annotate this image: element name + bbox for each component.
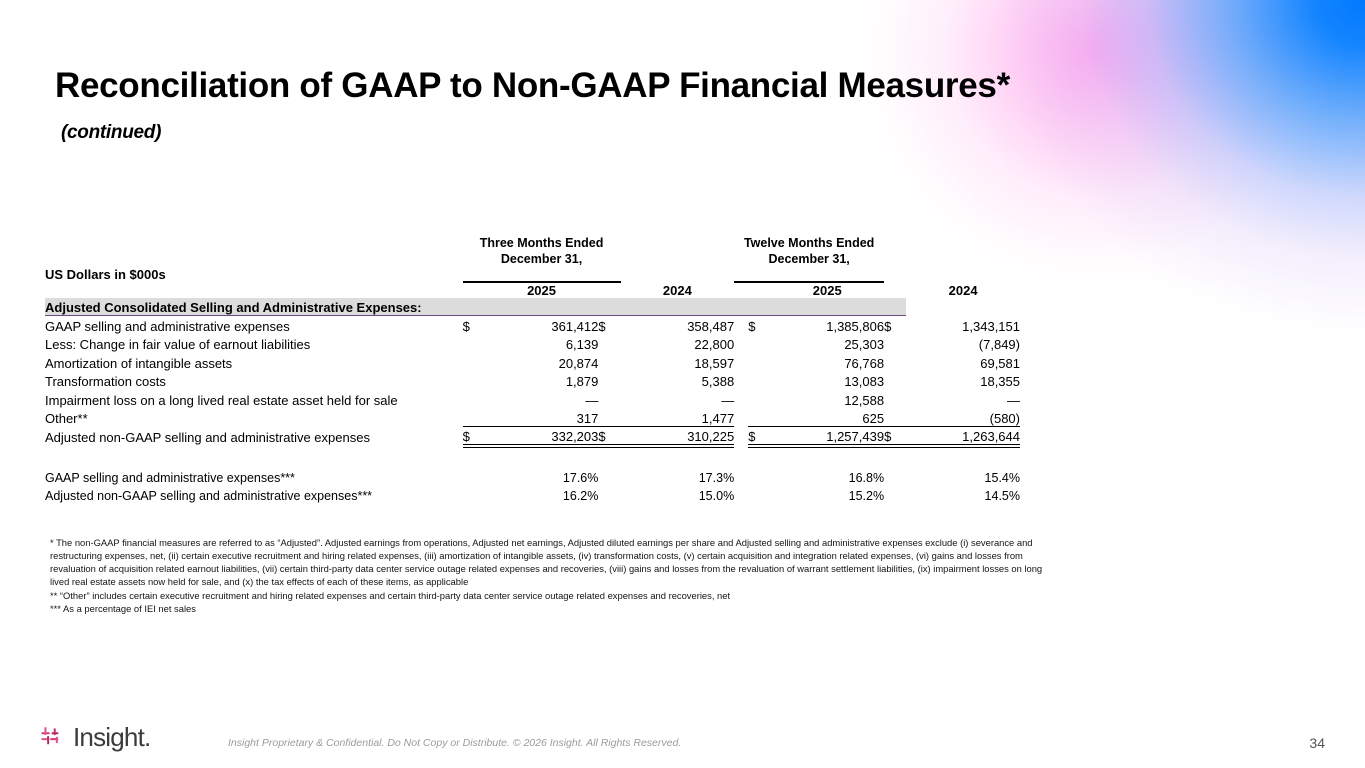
insight-logo-icon — [40, 724, 67, 751]
col-gap — [734, 334, 748, 353]
currency-symbol: $ — [748, 315, 770, 334]
year-cur-spacer — [598, 282, 620, 298]
currency-symbol: $ — [463, 426, 485, 445]
percent-cur-spacer — [748, 467, 770, 485]
table-total-row: Adjusted non-GAAP selling and administra… — [45, 426, 1020, 445]
cell-value: 17.6% — [485, 467, 599, 485]
group-header-line2: December 31, — [501, 252, 582, 266]
insight-logo-wordmark: Insight. — [73, 722, 150, 753]
cell-value: 1,343,151 — [906, 315, 1020, 334]
table-percent-row: Adjusted non-GAAP selling and administra… — [45, 485, 1020, 503]
table-row: Amortization of intangible assets20,8741… — [45, 352, 1020, 371]
cell-value: 15.2% — [770, 485, 884, 503]
cell-value: 16.8% — [770, 467, 884, 485]
col-gap — [734, 389, 748, 408]
cell-value: — — [906, 389, 1020, 408]
col-gap — [734, 408, 748, 427]
cell-value: 1,263,644 — [906, 426, 1020, 445]
currency-symbol: $ — [748, 426, 770, 445]
percent-cur-spacer — [463, 485, 485, 503]
currency-symbol — [463, 334, 485, 353]
currency-symbol — [598, 408, 620, 427]
page-title-continued: (continued) — [61, 122, 161, 143]
cell-value: 6,139 — [485, 334, 599, 353]
footnotes: * The non-GAAP financial measures are re… — [50, 537, 1055, 616]
cell-value: 13,083 — [770, 371, 884, 390]
group-rule-three-months — [463, 267, 621, 282]
cell-value: 1,385,806 — [770, 315, 884, 334]
year-cur-spacer — [748, 282, 770, 298]
group-rule-gap — [621, 267, 735, 282]
cell-value: 18,355 — [906, 371, 1020, 390]
cell-value: 625 — [770, 408, 884, 427]
cell-value: — — [485, 389, 599, 408]
table-gap-row — [45, 448, 1020, 467]
table-year-header-row: 2025202420252024 — [45, 282, 1020, 298]
currency-symbol — [598, 389, 620, 408]
section-banner-row: Adjusted Consolidated Selling and Admini… — [45, 298, 1020, 315]
cell-value: — — [621, 389, 735, 408]
footnote-double-star: ** “Other” includes certain executive re… — [50, 590, 1055, 603]
table-percent-row: GAAP selling and administrative expenses… — [45, 467, 1020, 485]
currency-symbol — [463, 371, 485, 390]
units-label: US Dollars in $000s — [45, 267, 463, 282]
group-gap — [621, 236, 735, 267]
group-header-three-months: Three Months EndedDecember 31, — [463, 236, 621, 267]
cell-value: 332,203 — [485, 426, 599, 445]
cell-value: 317 — [485, 408, 599, 427]
cell-value: 1,879 — [485, 371, 599, 390]
currency-symbol — [748, 389, 770, 408]
cell-value: 76,768 — [770, 352, 884, 371]
percent-cur-spacer — [748, 485, 770, 503]
row-label: GAAP selling and administrative expenses… — [45, 467, 463, 485]
page-number: 34 — [1309, 735, 1325, 751]
currency-symbol — [463, 389, 485, 408]
table-row: Impairment loss on a long lived real est… — [45, 389, 1020, 408]
double-rule-num — [906, 445, 1020, 448]
row-label: Adjusted non-GAAP selling and administra… — [45, 426, 463, 445]
cell-value: 310,225 — [621, 426, 735, 445]
cell-value: 358,487 — [621, 315, 735, 334]
year-header-three-months-2025: 2025 — [485, 282, 599, 298]
currency-symbol — [748, 371, 770, 390]
cell-value: (580) — [906, 408, 1020, 427]
group-header-line1: Three Months Ended — [480, 236, 604, 250]
footnote-star: * The non-GAAP financial measures are re… — [50, 537, 1055, 589]
section-banner-label: Adjusted Consolidated Selling and Admini… — [45, 298, 906, 315]
percent-cur-spacer — [598, 485, 620, 503]
year-cur-spacer — [884, 282, 906, 298]
cell-value: 14.5% — [906, 485, 1020, 503]
cell-value: 25,303 — [770, 334, 884, 353]
col-gap — [734, 371, 748, 390]
group-header-spacer — [45, 236, 463, 267]
cell-value: 18,597 — [621, 352, 735, 371]
page-title: Reconciliation of GAAP to Non-GAAP Finan… — [55, 65, 1015, 148]
currency-symbol — [884, 352, 906, 371]
cell-value: 69,581 — [906, 352, 1020, 371]
currency-symbol: $ — [884, 426, 906, 445]
currency-symbol — [884, 371, 906, 390]
currency-symbol — [748, 408, 770, 427]
cell-value: 1,477 — [621, 408, 735, 427]
cell-value: 5,388 — [621, 371, 735, 390]
currency-symbol: $ — [884, 315, 906, 334]
col-gap — [734, 485, 748, 503]
row-label: Transformation costs — [45, 371, 463, 390]
currency-symbol — [463, 352, 485, 371]
table-group-rule-row: US Dollars in $000s — [45, 267, 1020, 282]
reconciliation-table: Three Months EndedDecember 31,Twelve Mon… — [45, 236, 1020, 503]
row-label: Adjusted non-GAAP selling and administra… — [45, 485, 463, 503]
page-title-text: Reconciliation of GAAP to Non-GAAP Finan… — [55, 66, 1010, 105]
col-gap — [734, 467, 748, 485]
cell-value: 12,588 — [770, 389, 884, 408]
cell-value: 15.4% — [906, 467, 1020, 485]
footnote-triple-star: *** As a percentage of IEI net sales — [50, 603, 1055, 616]
currency-symbol — [598, 334, 620, 353]
currency-symbol: $ — [463, 315, 485, 334]
cell-value: (7,849) — [906, 334, 1020, 353]
table-row: Less: Change in fair value of earnout li… — [45, 334, 1020, 353]
title-block: Reconciliation of GAAP to Non-GAAP Finan… — [55, 65, 1015, 148]
table-row: Other**3171,477625(580) — [45, 408, 1020, 427]
group-header-line2: December 31, — [768, 252, 849, 266]
year-cur-spacer — [463, 282, 485, 298]
group-rule-twelve-months — [734, 267, 884, 282]
row-label: Impairment loss on a long lived real est… — [45, 389, 463, 408]
currency-symbol — [463, 408, 485, 427]
table-row: Transformation costs1,8795,38813,08318,3… — [45, 371, 1020, 390]
row-label: Other** — [45, 408, 463, 427]
percent-cur-spacer — [463, 467, 485, 485]
col-gap — [734, 315, 748, 334]
percent-cur-spacer — [884, 467, 906, 485]
group-header-line1: Twelve Months Ended — [744, 236, 874, 250]
footer-confidentiality-note: Insight Proprietary & Confidential. Do N… — [228, 737, 681, 749]
year-header-three-months-2024: 2024 — [621, 282, 735, 298]
currency-symbol — [884, 334, 906, 353]
currency-symbol — [598, 352, 620, 371]
cell-value: 22,800 — [621, 334, 735, 353]
row-label: GAAP selling and administrative expenses — [45, 315, 463, 334]
cell-value: 20,874 — [485, 352, 599, 371]
col-gap — [734, 426, 748, 445]
table-row: GAAP selling and administrative expenses… — [45, 315, 1020, 334]
table-gap-cell — [45, 448, 906, 467]
group-header-twelve-months: Twelve Months EndedDecember 31, — [734, 236, 884, 267]
year-header-spacer — [45, 282, 463, 298]
cell-value: 1,257,439 — [770, 426, 884, 445]
currency-symbol: $ — [598, 315, 620, 334]
year-header-twelve-months-2024: 2024 — [906, 282, 1020, 298]
currency-symbol — [748, 352, 770, 371]
insight-logo: Insight. — [40, 722, 150, 753]
currency-symbol — [598, 371, 620, 390]
percent-cur-spacer — [598, 467, 620, 485]
row-label: Less: Change in fair value of earnout li… — [45, 334, 463, 353]
percent-cur-spacer — [884, 485, 906, 503]
currency-symbol: $ — [598, 426, 620, 445]
cell-value: 15.0% — [621, 485, 735, 503]
table-group-header-row: Three Months EndedDecember 31,Twelve Mon… — [45, 236, 1020, 267]
currency-symbol — [884, 389, 906, 408]
col-gap — [734, 352, 748, 371]
cell-value: 361,412 — [485, 315, 599, 334]
year-header-twelve-months-2025: 2025 — [770, 282, 884, 298]
year-gap — [734, 282, 748, 298]
currency-symbol — [884, 408, 906, 427]
currency-symbol — [748, 334, 770, 353]
cell-value: 17.3% — [621, 467, 735, 485]
row-label: Amortization of intangible assets — [45, 352, 463, 371]
cell-value: 16.2% — [485, 485, 599, 503]
